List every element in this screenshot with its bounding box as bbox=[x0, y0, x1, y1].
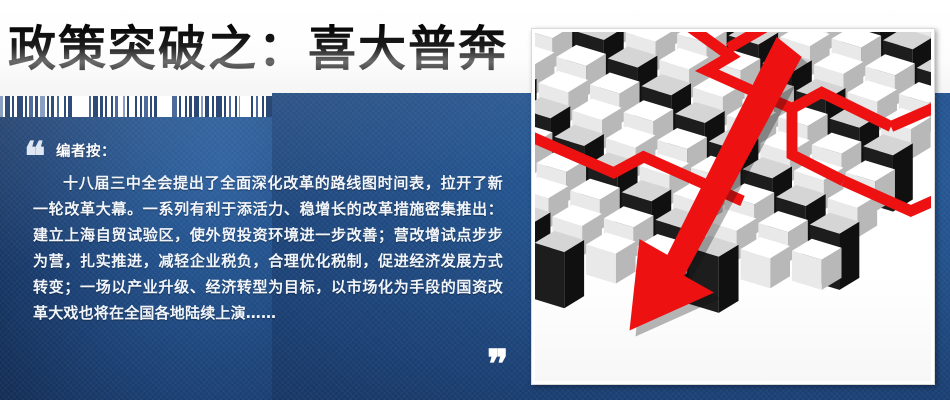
photo-image bbox=[535, 32, 931, 381]
quote-open-icon: ❝ bbox=[24, 144, 46, 170]
page-title: 政策突破之：喜大普奔 bbox=[8, 20, 508, 78]
editor-note-label: 编者按： bbox=[56, 140, 116, 161]
red-arrow-icon bbox=[535, 32, 931, 381]
barcode-bars bbox=[0, 96, 272, 117]
slide-canvas: 政策突破之：喜大普奔 ❝ 编者按： 十八届三中全会提出了全面深化改革的路线图时间… bbox=[0, 0, 950, 400]
barcode-decoration bbox=[0, 96, 272, 117]
editor-note-body: 十八届三中全会提出了全面深化改革的路线图时间表，拉开了新一轮改革大幕。一系列有利… bbox=[33, 170, 503, 326]
quote-close-icon: ❞ bbox=[487, 352, 509, 378]
photo-frame bbox=[531, 28, 935, 385]
